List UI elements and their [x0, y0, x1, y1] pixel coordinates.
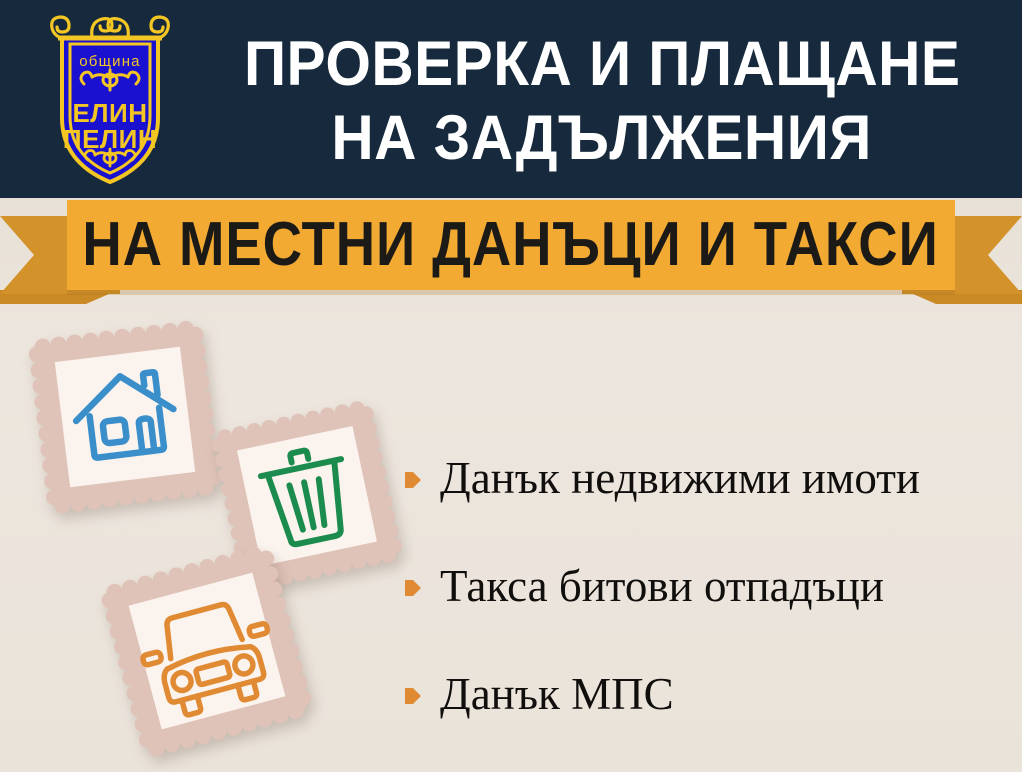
triangle-bullet-icon	[400, 683, 426, 709]
triangle-bullet-icon	[400, 575, 426, 601]
poster-title: ПРОВЕРКА И ПЛАЩАНЕ НА ЗАДЪЛЖЕНИЯ	[196, 16, 1008, 186]
list-item[interactable]: Такса битови отпадъци	[400, 532, 1010, 640]
list-item-label: Данък недвижими имоти	[440, 453, 920, 503]
list-item[interactable]: Данък недвижими имоти	[400, 424, 1010, 532]
title-line-1: ПРОВЕРКА И ПЛАЩАНЕ	[244, 27, 961, 101]
poster-canvas: община ЕЛИН ПЕЛИН	[0, 0, 1022, 772]
ribbon-banner: НА МЕСТНИ ДАНЪЦИ И ТАКСИ	[67, 200, 955, 290]
ribbon-label: НА МЕСТНИ ДАНЪЦИ И ТАКСИ	[83, 214, 939, 276]
vehicle-tax-stamp	[92, 536, 322, 766]
triangle-bullet-icon	[400, 467, 426, 493]
subtitle-ribbon: НА МЕСТНИ ДАНЪЦИ И ТАКСИ	[0, 198, 1022, 310]
list-item-label: Данък МПС	[440, 669, 674, 719]
list-item-label: Такса битови отпадъци	[440, 561, 884, 611]
logo-text-obshtina: община	[79, 53, 140, 70]
title-line-2: НА ЗАДЪЛЖЕНИЯ	[332, 101, 873, 175]
list-item[interactable]: Данък МПС	[400, 640, 1010, 748]
municipality-logo: община ЕЛИН ПЕЛИН	[40, 10, 180, 188]
poster-header: община ЕЛИН ПЕЛИН	[0, 0, 1022, 198]
tax-type-list: Данък недвижими имоти Такса битови отпад…	[400, 424, 1010, 748]
